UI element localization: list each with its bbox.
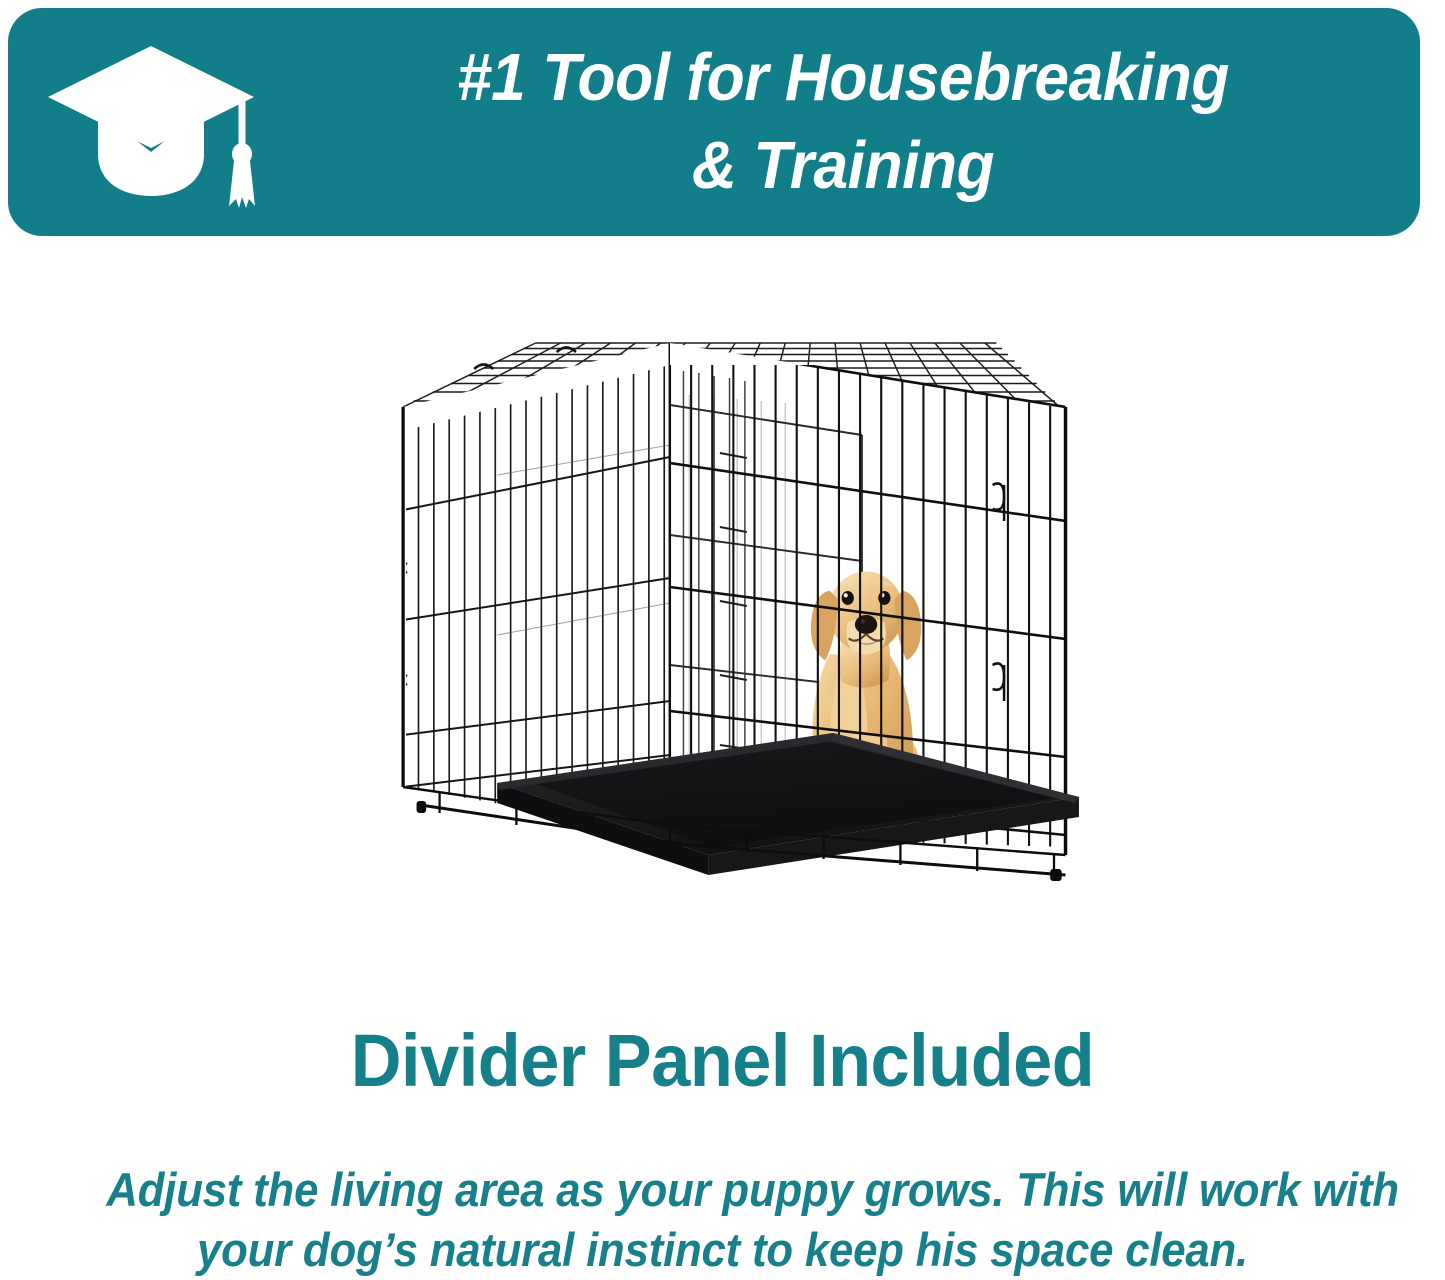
header-title: #1 Tool for Housebreaking & Training [336, 22, 1350, 222]
dog-crate [403, 343, 1079, 881]
caption-line-2: your dog’s natural instinct to keep his … [106, 1220, 1338, 1280]
graduation-cap-icon [46, 42, 276, 212]
header-title-line1: #1 Tool for Housebreaking [457, 34, 1229, 122]
caption-line-1: Adjust the living area as your puppy gro… [106, 1160, 1338, 1220]
divider-panel-caption: Adjust the living area as your puppy gro… [106, 1160, 1338, 1280]
product-photo-crate [0, 300, 1445, 940]
header-title-line2: & Training [692, 122, 994, 210]
divider-panel-heading: Divider Panel Included [36, 1018, 1409, 1103]
crate-left-panel [403, 343, 670, 827]
header-banner: #1 Tool for Housebreaking & Training [8, 8, 1420, 236]
